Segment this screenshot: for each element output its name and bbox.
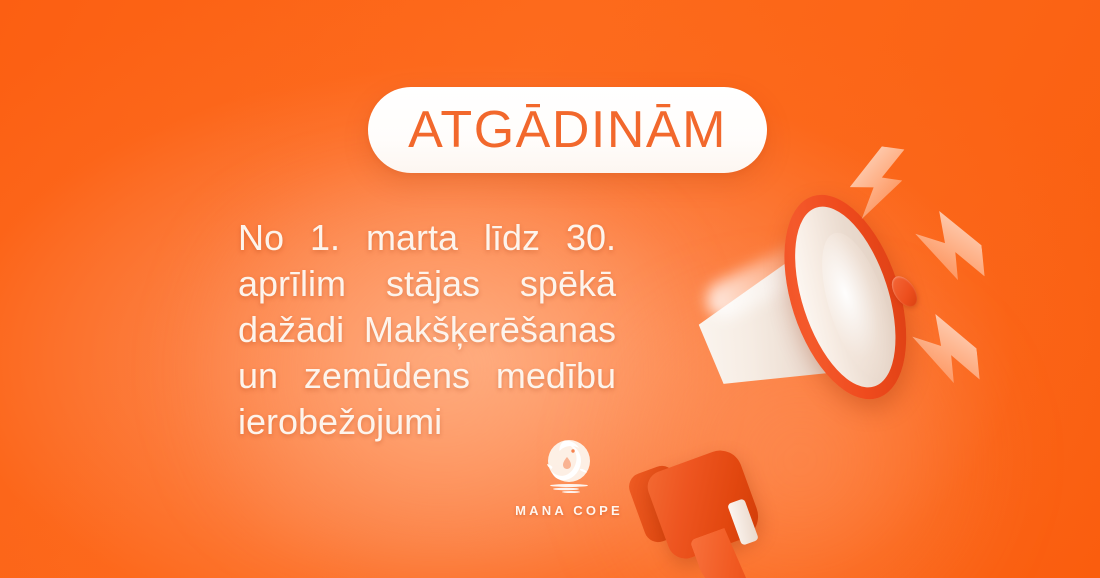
megaphone-icon xyxy=(618,168,948,516)
megaphone-cone xyxy=(644,167,942,461)
title-pill: ATGĀDINĀM xyxy=(368,87,767,173)
page-title: ATGĀDINĀM xyxy=(408,104,727,156)
announcement-text: No 1. marta līdz 30. aprīlim stājas spēk… xyxy=(238,215,616,445)
announcement-text-content: No 1. marta līdz 30. aprīlim stājas spēk… xyxy=(238,217,616,442)
fish-logo-icon xyxy=(537,435,601,499)
reminder-poster: ATGĀDINĀM No 1. marta līdz 30. aprīlim s… xyxy=(0,0,1100,578)
brand-logo: MANA COPE xyxy=(505,435,633,518)
megaphone-bell-shading xyxy=(807,225,907,387)
brand-name: MANA COPE xyxy=(515,503,623,518)
